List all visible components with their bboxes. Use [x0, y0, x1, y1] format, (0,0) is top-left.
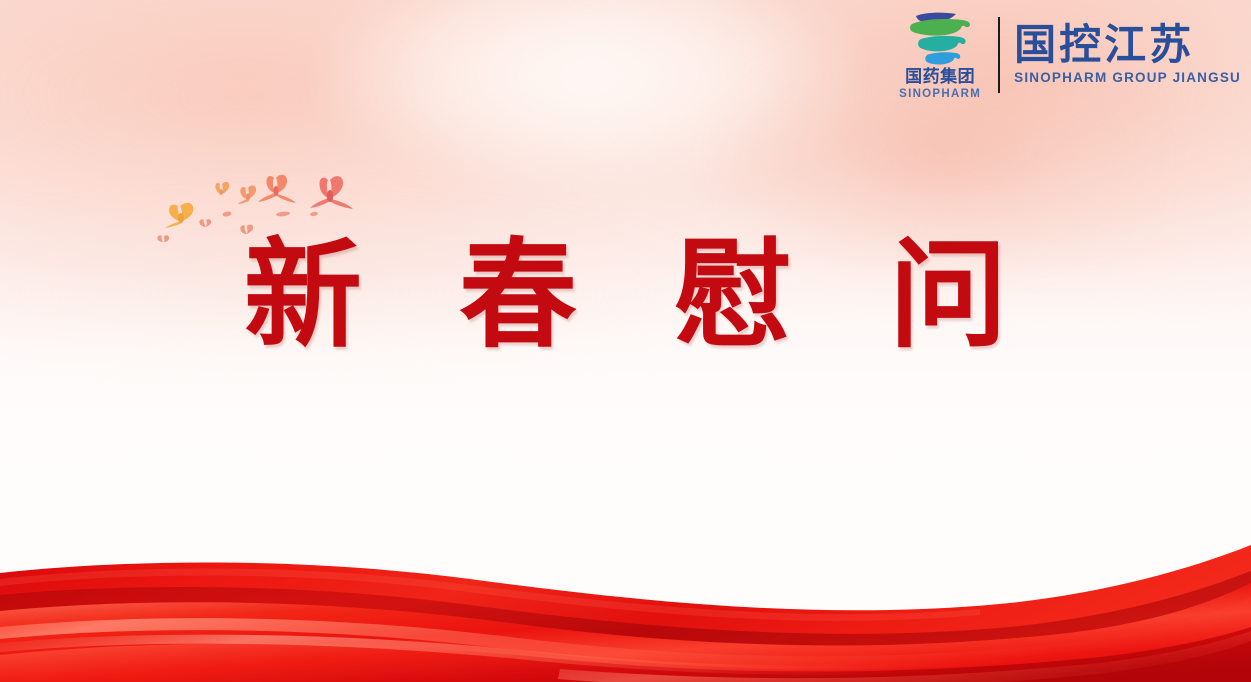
title-text: 新 春 慰 问: [216, 232, 1035, 359]
sinopharm-chinese-name: 国药集团: [905, 69, 975, 87]
page-title: 新 春 慰 问: [0, 232, 1251, 359]
jiangsu-chinese-name: 国控江苏: [1014, 24, 1194, 66]
poster-canvas: 国药集团 SINOPHARM 国控江苏 SINOPHARM GROUP JIAN…: [0, 0, 1251, 682]
logo-divider: [998, 17, 1000, 93]
red-silk-ribbon: [0, 537, 1251, 682]
ribbon-svg: [0, 537, 1251, 682]
sinopharm-english-name: SINOPHARM: [899, 88, 981, 101]
logo-lockup: 国药集团 SINOPHARM 国控江苏 SINOPHARM GROUP JIAN…: [892, 6, 1245, 104]
sinopharm-ribbon-mark: [904, 11, 976, 67]
jiangsu-brand: 国控江苏 SINOPHARM GROUP JIANGSU: [1014, 24, 1245, 86]
jiangsu-english-name: SINOPHARM GROUP JIANGSU: [1014, 71, 1241, 86]
sinopharm-logo: 国药集团 SINOPHARM: [892, 9, 988, 100]
